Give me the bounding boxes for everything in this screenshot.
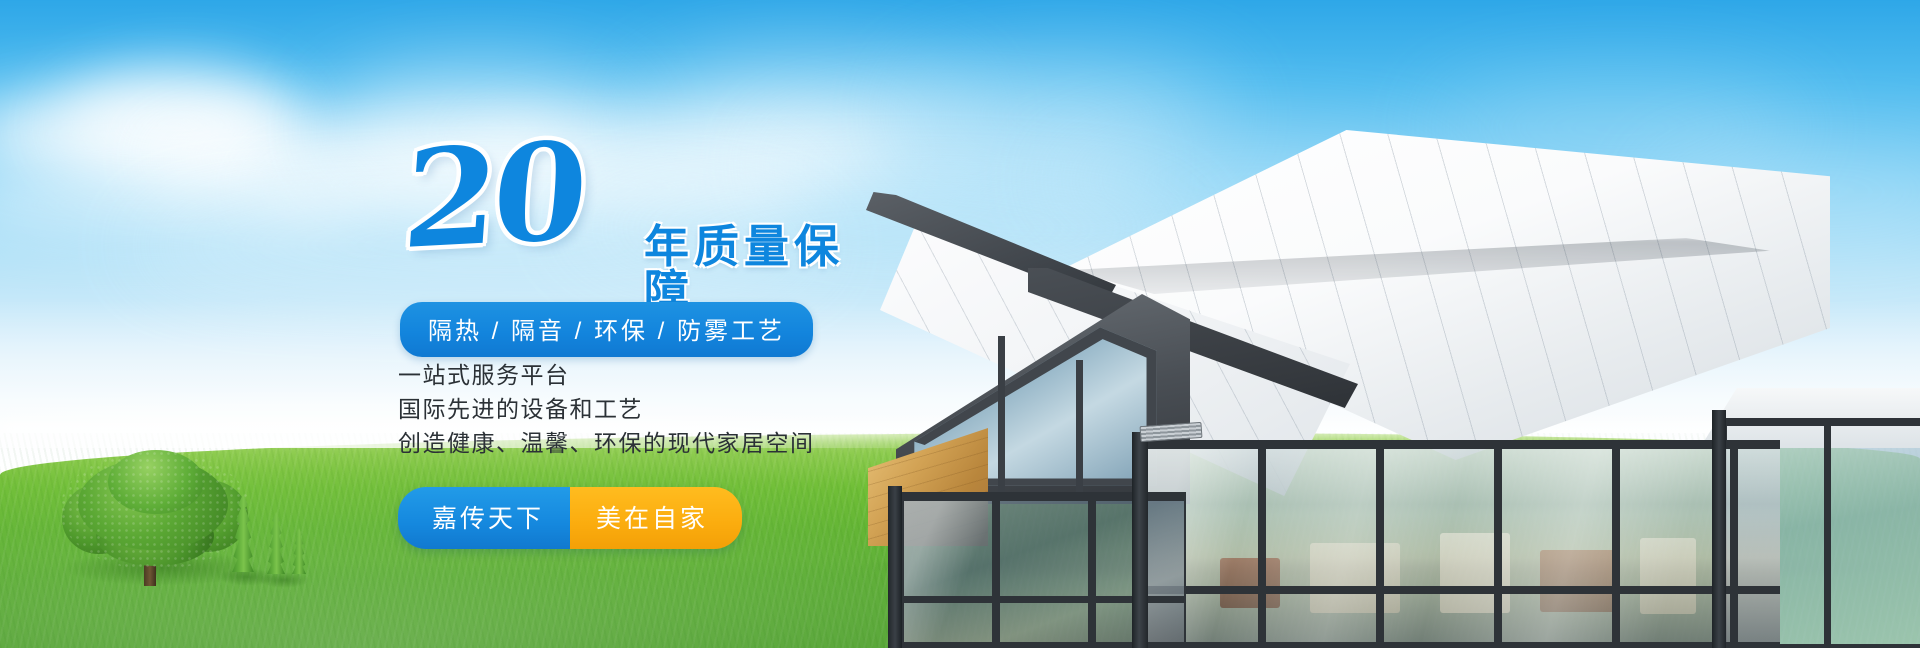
corner-post	[1132, 432, 1148, 648]
gable-mullion	[998, 336, 1005, 492]
corner-post	[888, 486, 902, 648]
front-facade-transom	[1140, 440, 1780, 648]
slogan-primary-button[interactable]: 嘉传天下	[398, 487, 570, 549]
banner-copy-block: 20 年质量保障 隔热 / 隔音 / 环保 / 防雾工艺 一站式服务平台 国际先…	[0, 0, 860, 648]
description-lines: 一站式服务平台 国际先进的设备和工艺 创造健康、温馨、环保的现代家居空间	[398, 358, 815, 460]
gable-mullion	[1076, 360, 1083, 492]
feature-pill-label: 隔热 / 隔音 / 环保 / 防雾工艺	[428, 318, 785, 345]
slogan-button-group[interactable]: 嘉传天下 美在自家	[398, 487, 742, 549]
slogan-secondary-button[interactable]: 美在自家	[570, 487, 742, 549]
modern-glass-sunroom-illustration	[840, 88, 1920, 648]
description-line-1: 一站式服务平台	[398, 358, 815, 392]
description-line-2: 国际先进的设备和工艺	[398, 392, 815, 426]
corner-post	[1712, 410, 1726, 648]
quality-guarantee-headline: 年质量保障	[644, 224, 860, 314]
description-line-3: 创造健康、温馨、环保的现代家居空间	[398, 426, 815, 460]
promo-banner: 20 年质量保障 隔热 / 隔音 / 环保 / 防雾工艺 一站式服务平台 国际先…	[0, 0, 1920, 648]
feature-pill: 隔热 / 隔音 / 环保 / 防雾工艺	[400, 302, 813, 357]
years-number: 20	[399, 123, 587, 268]
